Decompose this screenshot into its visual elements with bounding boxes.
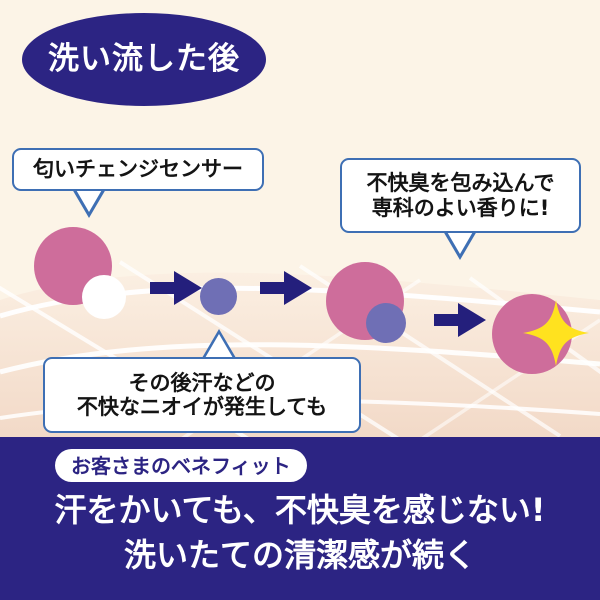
speech-bubble-sweat: その後汗などの 不快なニオイが発生しても xyxy=(43,357,361,433)
arrow-stage1-to-stage2 xyxy=(148,268,204,308)
bubble-sweat-line-1: その後汗などの xyxy=(129,371,276,395)
bubble-scent-line-2: 専科のよい香りに! xyxy=(372,196,550,220)
sparkle-icon xyxy=(521,298,591,368)
title-text: 洗い流した後 xyxy=(48,44,240,75)
bubble-sensor-line-1: 匂いチェンジセンサー xyxy=(33,157,243,181)
speech-bubble-sensor: 匂いチェンジセンサー xyxy=(12,148,264,191)
arrow-stage2-to-stage3 xyxy=(258,268,314,308)
benefit-banner: お客さまのベネフィット 汗をかいても、不快臭を感じない! 洗いたての清潔感が続く xyxy=(0,437,600,600)
stage1-white-circle xyxy=(82,275,126,319)
benefit-headline-line-2: 洗いたての清潔感が続く xyxy=(0,539,600,571)
title-ellipse: 洗い流した後 xyxy=(22,13,266,106)
speech-bubble-scent: 不快臭を包み込んで 専科のよい香りに! xyxy=(340,158,581,233)
bubble-scent-tail-fill xyxy=(446,230,474,254)
benefit-pill: お客さまのベネフィット xyxy=(55,449,307,482)
bubble-sweat-line-2: 不快なニオイが発生しても xyxy=(77,395,327,419)
stage3-purple-circle xyxy=(366,303,406,343)
benefit-headline-line-1: 汗をかいても、不快臭を感じない! xyxy=(0,494,600,526)
stage2-purple-circle xyxy=(200,278,237,315)
bubble-scent-line-1: 不快臭を包み込んで xyxy=(367,171,555,195)
arrow-stage3-to-stage4 xyxy=(432,300,488,340)
benefit-pill-label: お客さまのベネフィット xyxy=(71,456,291,476)
infographic-root: 洗い流した後 匂いチェンジセンサー 不快臭を包み込んで 専科のよい香りに! その… xyxy=(0,0,600,600)
bubble-sensor-tail-fill xyxy=(75,188,103,212)
bubble-sweat-tail-fill xyxy=(205,334,233,358)
